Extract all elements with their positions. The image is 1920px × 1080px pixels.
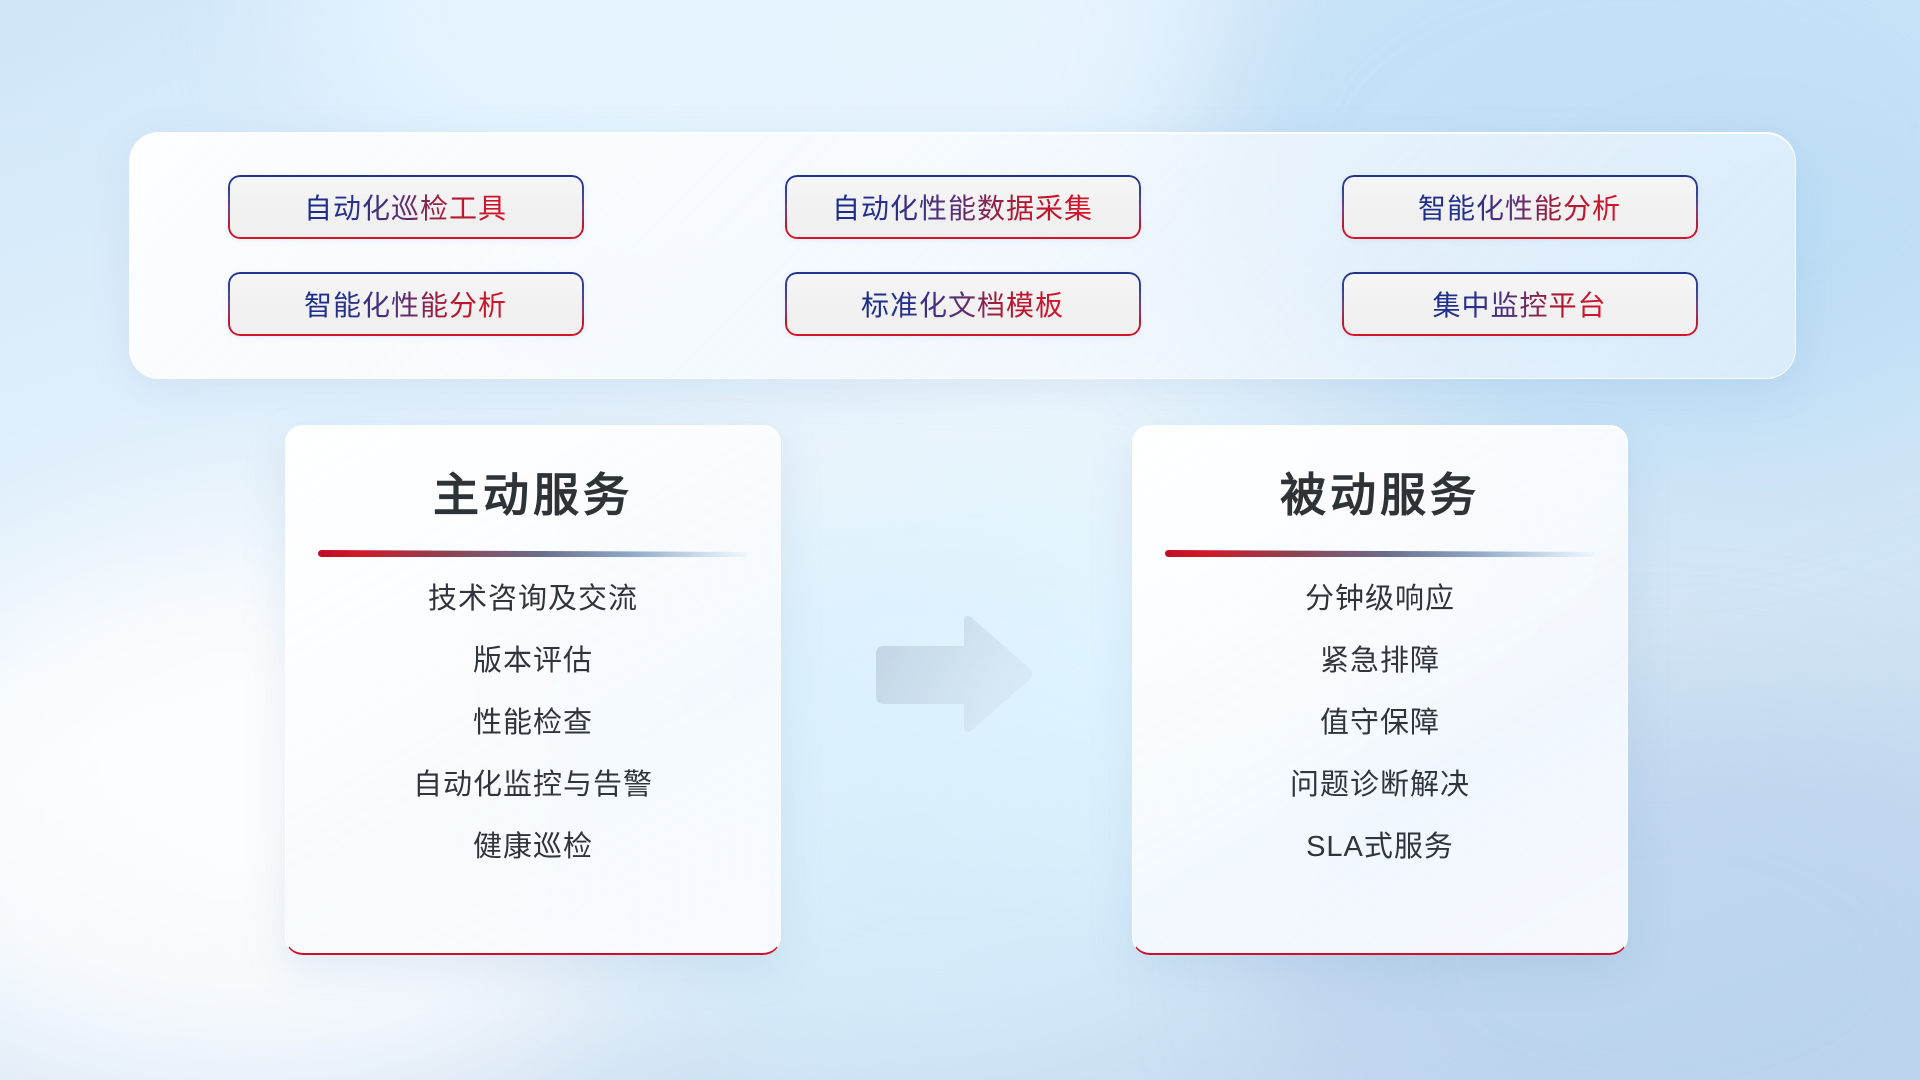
card-title: 主动服务 xyxy=(286,472,780,518)
service-list-item: 值守保障 xyxy=(1133,709,1627,738)
service-list-item: 版本评估 xyxy=(286,647,780,676)
service-list-item: 分钟级响应 xyxy=(1133,585,1627,614)
service-list-item: SLA式服务 xyxy=(1133,833,1627,862)
capability-tag-grid: 自动化巡检工具 自动化性能数据采集 智能化性能分析 智能化性能分析 标准化文档模… xyxy=(130,133,1795,378)
service-list-item: 健康巡检 xyxy=(286,833,780,862)
card-title-divider xyxy=(318,550,748,557)
capability-tag[interactable]: 集中监控平台 xyxy=(1342,272,1698,336)
capability-tag-label: 智能化性能分析 xyxy=(1418,187,1621,227)
service-list-item: 技术咨询及交流 xyxy=(286,585,780,614)
capability-tag-label: 标准化文档模板 xyxy=(861,284,1064,324)
service-list-item: 自动化监控与告警 xyxy=(286,771,780,800)
service-list-item: 性能检查 xyxy=(286,709,780,738)
capability-panel: 自动化巡检工具 自动化性能数据采集 智能化性能分析 智能化性能分析 标准化文档模… xyxy=(129,132,1796,379)
capability-tag[interactable]: 自动化巡检工具 xyxy=(228,175,584,239)
service-item-list: 分钟级响应 紧急排障 值守保障 问题诊断解决 SLA式服务 xyxy=(1133,585,1627,862)
capability-tag-label: 自动化巡检工具 xyxy=(304,187,507,227)
service-list-item: 问题诊断解决 xyxy=(1133,771,1627,800)
capability-tag[interactable]: 标准化文档模板 xyxy=(785,272,1141,336)
capability-tag-label: 集中监控平台 xyxy=(1432,284,1606,324)
service-item-list: 技术咨询及交流 版本评估 性能检查 自动化监控与告警 健康巡检 xyxy=(286,585,780,862)
card-title: 被动服务 xyxy=(1133,472,1627,518)
card-title-divider xyxy=(1165,550,1595,557)
capability-tag[interactable]: 智能化性能分析 xyxy=(1342,175,1698,239)
diagram-canvas: 自动化巡检工具 自动化性能数据采集 智能化性能分析 智能化性能分析 标准化文档模… xyxy=(0,0,1920,1080)
capability-tag-label: 智能化性能分析 xyxy=(304,284,507,324)
capability-tag-label: 自动化性能数据采集 xyxy=(832,187,1093,227)
service-list-item: 紧急排障 xyxy=(1133,647,1627,676)
service-card-proactive: 主动服务 技术咨询及交流 版本评估 性能检查 自动化监控与告警 健康巡检 xyxy=(285,425,781,955)
arrow-right-icon xyxy=(868,610,1038,740)
service-card-reactive: 被动服务 分钟级响应 紧急排障 值守保障 问题诊断解决 SLA式服务 xyxy=(1132,425,1628,955)
capability-tag[interactable]: 智能化性能分析 xyxy=(228,272,584,336)
capability-tag[interactable]: 自动化性能数据采集 xyxy=(785,175,1141,239)
